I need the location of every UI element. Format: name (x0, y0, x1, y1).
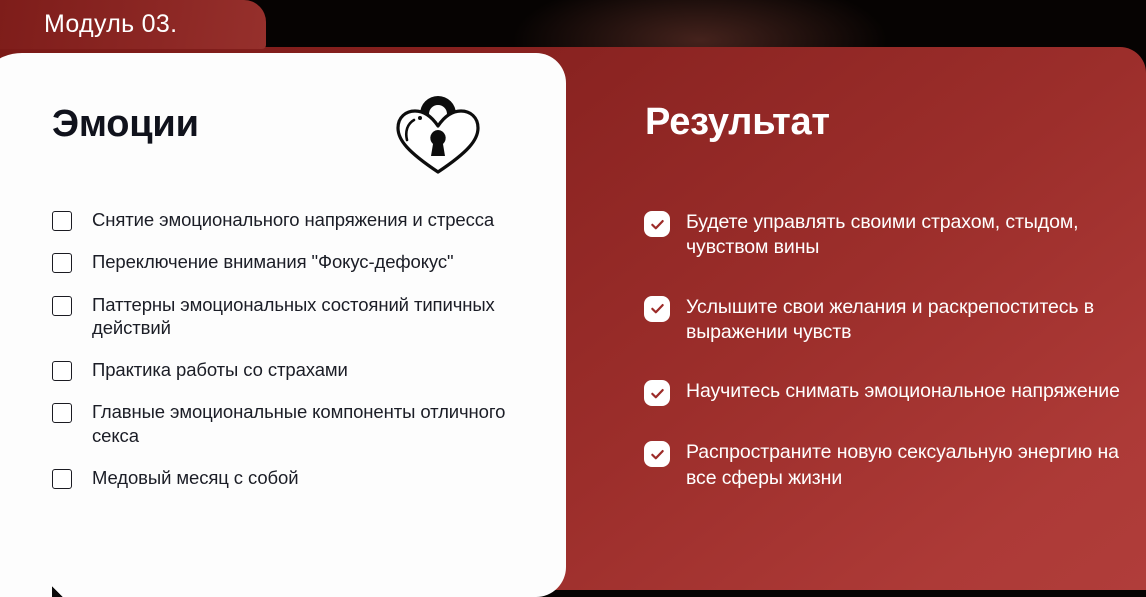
checkbox-checked-icon[interactable] (644, 441, 670, 467)
list-item[interactable]: Главные эмоциональные компоненты отлично… (52, 400, 532, 447)
corner-artifact (52, 586, 63, 597)
list-item[interactable]: Медовый месяц с собой (52, 466, 532, 489)
emotions-checklist: Снятие эмоционального напряжения и стрес… (52, 208, 532, 489)
checkbox-unchecked-icon[interactable] (52, 296, 72, 316)
list-item[interactable]: Паттерны эмоциональных состояний типичны… (52, 293, 532, 340)
list-item[interactable]: Переключение внимания "Фокус-дефокус" (52, 250, 532, 273)
list-item-label: Распространите новую сексуальную энергию… (686, 440, 1122, 491)
list-item-label: Услышите свои желания и раскрепоститесь … (686, 295, 1122, 346)
list-item[interactable]: Распространите новую сексуальную энергию… (644, 440, 1122, 491)
list-item-label: Практика работы со страхами (92, 358, 348, 381)
list-item-label: Главные эмоциональные компоненты отлично… (92, 400, 532, 447)
result-heading: Результат (645, 103, 830, 141)
list-item[interactable]: Научитесь снимать эмоциональное напряжен… (644, 379, 1122, 406)
list-item[interactable]: Будете управлять своими страхом, стыдом,… (644, 210, 1122, 261)
checkbox-unchecked-icon[interactable] (52, 361, 72, 381)
list-item-label: Паттерны эмоциональных состояний типичны… (92, 293, 532, 340)
list-item[interactable]: Снятие эмоционального напряжения и стрес… (52, 208, 532, 231)
result-checklist: Будете управлять своими страхом, стыдом,… (644, 210, 1122, 491)
list-item-label: Медовый месяц с собой (92, 466, 298, 489)
module-tab[interactable]: Модуль 03. (0, 0, 266, 49)
slide-root: Модуль 03. Эмоции Снятие эмоционального … (0, 0, 1146, 597)
module-tab-label: Модуль 03. (44, 12, 177, 37)
list-item-label: Научитесь снимать эмоциональное напряжен… (686, 379, 1120, 404)
heart-lock-icon (390, 86, 486, 176)
list-item[interactable]: Услышите свои желания и раскрепоститесь … (644, 295, 1122, 346)
list-item-label: Будете управлять своими страхом, стыдом,… (686, 210, 1122, 261)
list-item-label: Снятие эмоционального напряжения и стрес… (92, 208, 494, 231)
emotions-card: Эмоции Снятие эмоционального напряжения … (0, 53, 566, 597)
checkbox-unchecked-icon[interactable] (52, 211, 72, 231)
list-item-label: Переключение внимания "Фокус-дефокус" (92, 250, 453, 273)
list-item[interactable]: Практика работы со страхами (52, 358, 532, 381)
checkbox-unchecked-icon[interactable] (52, 469, 72, 489)
checkbox-unchecked-icon[interactable] (52, 253, 72, 273)
emotions-heading: Эмоции (52, 105, 199, 143)
checkbox-checked-icon[interactable] (644, 380, 670, 406)
checkbox-checked-icon[interactable] (644, 296, 670, 322)
checkbox-unchecked-icon[interactable] (52, 403, 72, 423)
checkbox-checked-icon[interactable] (644, 211, 670, 237)
